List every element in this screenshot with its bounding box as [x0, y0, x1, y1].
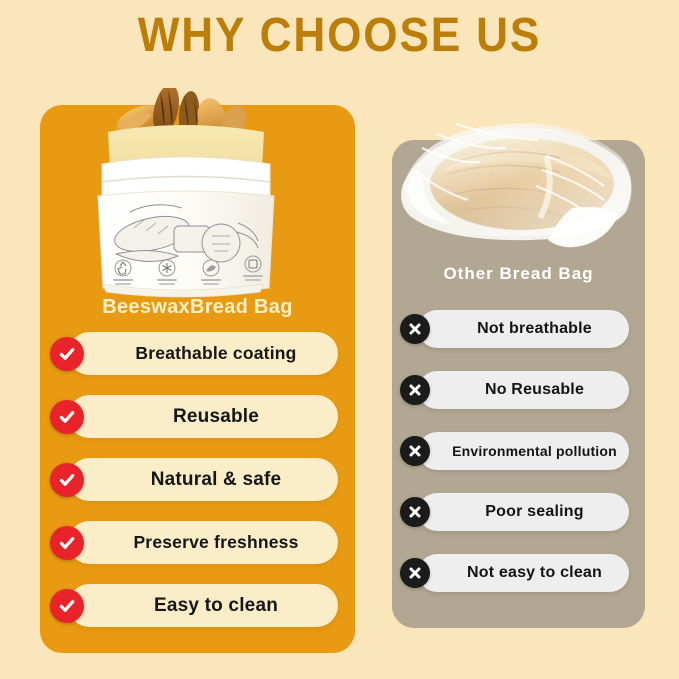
drawback-pill: Environmental pollution [418, 432, 629, 470]
beeswax-bread-bag-image [88, 88, 283, 298]
drawback-pill: Not breathable [418, 310, 629, 348]
left-panel-title: BeeswaxBread Bag [40, 296, 355, 319]
feature-pill: Preserve freshness [68, 521, 338, 564]
cross-icon [400, 558, 430, 588]
cross-icon [400, 436, 430, 466]
list-item[interactable]: Preserve freshness [50, 521, 350, 564]
list-item[interactable]: Breathable coating [50, 332, 350, 375]
beeswax-feature-list: Breathable coating Reusable Natural & sa… [50, 332, 350, 647]
list-item[interactable]: Environmental pollution [400, 432, 640, 470]
check-icon [50, 337, 84, 371]
feature-pill: Breathable coating [68, 332, 338, 375]
cross-icon [400, 497, 430, 527]
comparison-infographic: WHY CHOOSE US [0, 0, 679, 679]
page-title: WHY CHOOSE US [27, 8, 652, 63]
cross-icon [400, 375, 430, 405]
drawback-pill: Not easy to clean [418, 554, 629, 592]
right-panel-title: Other Bread Bag [392, 264, 645, 284]
check-icon [50, 589, 84, 623]
other-bag-feature-list: Not breathable No Reusable Environmental… [400, 310, 640, 615]
list-item[interactable]: Natural & safe [50, 458, 350, 501]
check-icon [50, 463, 84, 497]
list-item[interactable]: Easy to clean [50, 584, 350, 627]
list-item[interactable]: Not breathable [400, 310, 640, 348]
list-item[interactable]: Not easy to clean [400, 554, 640, 592]
check-icon [50, 400, 84, 434]
list-item[interactable]: No Reusable [400, 371, 640, 409]
feature-pill: Reusable [68, 395, 338, 438]
list-item[interactable]: Poor sealing [400, 493, 640, 531]
check-icon [50, 526, 84, 560]
feature-pill: Easy to clean [68, 584, 338, 627]
list-item[interactable]: Reusable [50, 395, 350, 438]
cross-icon [400, 314, 430, 344]
feature-pill: Natural & safe [68, 458, 338, 501]
drawback-pill: Poor sealing [418, 493, 629, 531]
drawback-pill: No Reusable [418, 371, 629, 409]
plastic-bagged-loaf-image [396, 112, 642, 260]
